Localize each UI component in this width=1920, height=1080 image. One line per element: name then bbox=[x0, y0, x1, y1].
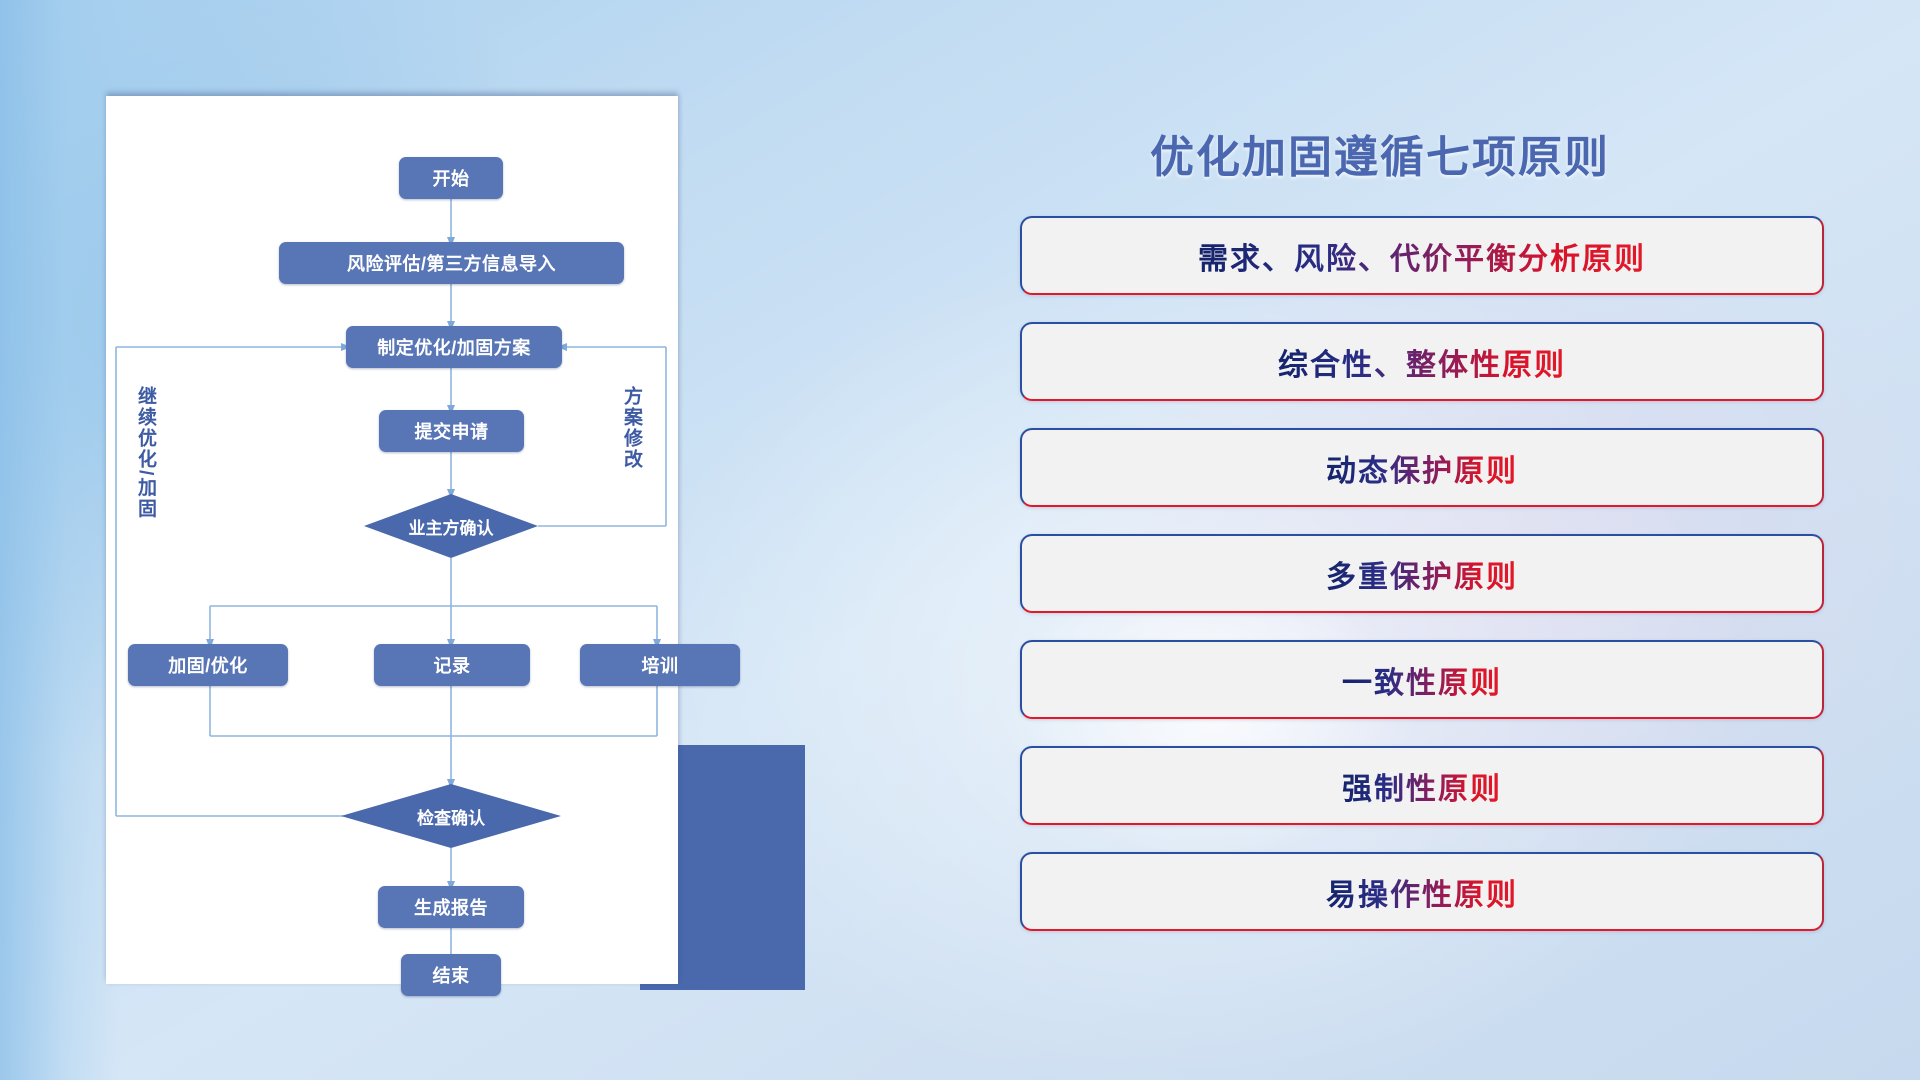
flow-node-risk-assessment-label: 风险评估/第三方信息导入 bbox=[347, 250, 556, 276]
principle-item-2[interactable]: 综合性、整体性原则 bbox=[1020, 322, 1824, 401]
flow-node-report[interactable]: 生成报告 bbox=[378, 886, 524, 928]
flow-node-training[interactable]: 培训 bbox=[580, 644, 740, 686]
flow-node-submit-label: 提交申请 bbox=[415, 418, 489, 444]
flow-node-record[interactable]: 记录 bbox=[374, 644, 530, 686]
principle-item-1-label: 需求、风险、代价平衡分析原则 bbox=[1198, 234, 1646, 278]
flow-edge-label-continue-optimize: 继续优化/加固 bbox=[132, 386, 159, 519]
principles-panel: 优化加固遵循七项原则 需求、风险、代价平衡分析原则 综合性、整体性原则 动态保护… bbox=[1020, 96, 1850, 996]
principle-item-3-label: 动态保护原则 bbox=[1326, 446, 1518, 490]
principle-item-6-label: 强制性原则 bbox=[1342, 764, 1502, 808]
flow-node-end[interactable]: 结束 bbox=[401, 954, 501, 996]
background-left-band bbox=[0, 0, 120, 1080]
flow-node-end-label: 结束 bbox=[433, 962, 470, 988]
flowchart-card: 开始 风险评估/第三方信息导入 制定优化/加固方案 提交申请 业主方确认 加固/… bbox=[106, 96, 678, 984]
principle-item-5-label: 一致性原则 bbox=[1342, 658, 1502, 702]
flow-node-submit[interactable]: 提交申请 bbox=[379, 410, 524, 452]
flow-node-reinforce-label: 加固/优化 bbox=[168, 652, 248, 678]
flow-node-reinforce[interactable]: 加固/优化 bbox=[128, 644, 288, 686]
principle-item-3[interactable]: 动态保护原则 bbox=[1020, 428, 1824, 507]
decision-owner-confirm bbox=[364, 494, 538, 558]
principles-list: 需求、风险、代价平衡分析原则 综合性、整体性原则 动态保护原则 多重保护原则 一… bbox=[1020, 216, 1820, 958]
principle-item-7[interactable]: 易操作性原则 bbox=[1020, 852, 1824, 931]
flow-edge-label-plan-revision: 方案修改 bbox=[618, 386, 645, 470]
principle-item-4-label: 多重保护原则 bbox=[1326, 552, 1518, 596]
principle-item-7-label: 易操作性原则 bbox=[1326, 870, 1518, 914]
flow-node-record-label: 记录 bbox=[434, 652, 471, 678]
flow-node-risk-assessment[interactable]: 风险评估/第三方信息导入 bbox=[279, 242, 624, 284]
principle-item-5[interactable]: 一致性原则 bbox=[1020, 640, 1824, 719]
principle-item-6[interactable]: 强制性原则 bbox=[1020, 746, 1824, 825]
flow-node-start[interactable]: 开始 bbox=[399, 157, 503, 199]
flow-node-start-label: 开始 bbox=[433, 165, 470, 191]
panel-title: 优化加固遵循七项原则 bbox=[1150, 121, 1610, 185]
flow-node-report-label: 生成报告 bbox=[414, 894, 488, 920]
principle-item-2-label: 综合性、整体性原则 bbox=[1278, 340, 1566, 384]
flow-node-plan[interactable]: 制定优化/加固方案 bbox=[346, 326, 562, 368]
decision-check-confirm bbox=[341, 784, 561, 848]
flow-node-training-label: 培训 bbox=[642, 652, 679, 678]
principle-item-1[interactable]: 需求、风险、代价平衡分析原则 bbox=[1020, 216, 1824, 295]
principle-item-4[interactable]: 多重保护原则 bbox=[1020, 534, 1824, 613]
flow-node-plan-label: 制定优化/加固方案 bbox=[377, 334, 531, 360]
flowchart-connectors bbox=[106, 96, 678, 984]
